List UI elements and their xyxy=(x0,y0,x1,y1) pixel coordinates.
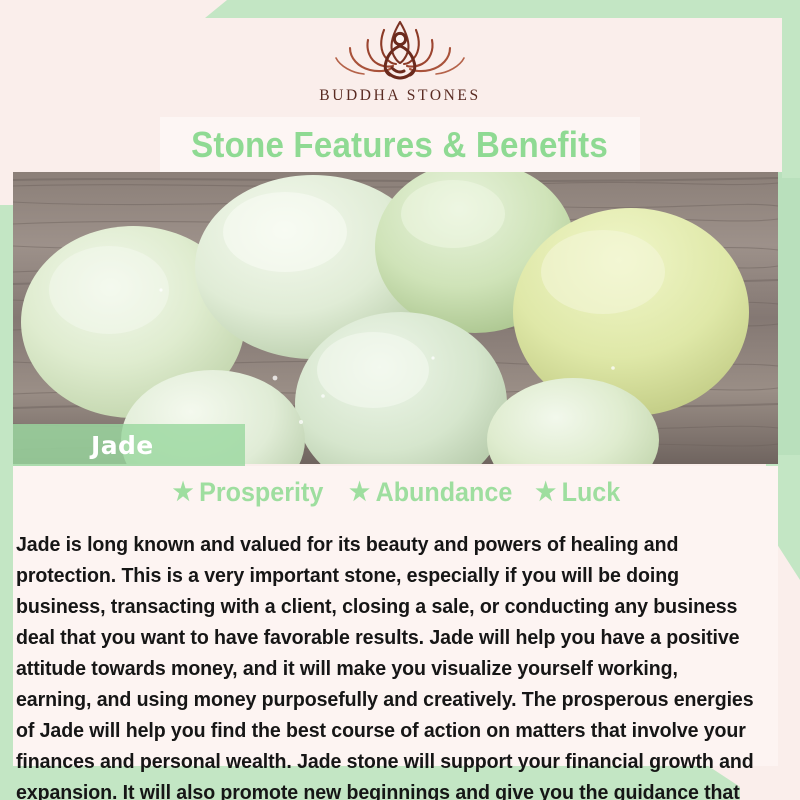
benefit-label: Luck xyxy=(562,477,621,508)
stone-photo xyxy=(13,172,778,464)
top-accent-band xyxy=(205,0,800,18)
lotus-meditation-icon xyxy=(324,18,476,84)
stone-description: Jade is long known and valued for its be… xyxy=(16,529,756,800)
benefit-item-abundance: ★ Abundance xyxy=(349,477,512,508)
right-photo-accent-bar xyxy=(778,172,800,462)
title-banner: Stone Features & Benefits xyxy=(160,117,640,172)
brand-name: BUDDHA STONES xyxy=(319,87,480,105)
brand-logo: BUDDHA STONES xyxy=(0,18,800,114)
benefit-item-luck: ★ Luck xyxy=(536,477,621,508)
star-icon: ★ xyxy=(173,480,194,505)
stone-name-badge: Jade xyxy=(13,424,245,466)
stone-name-label: Jade xyxy=(91,431,154,460)
page-title: Stone Features & Benefits xyxy=(192,124,609,166)
benefit-label: Prosperity xyxy=(199,477,323,508)
star-icon: ★ xyxy=(536,480,557,505)
infographic-page: Jade xyxy=(0,0,800,800)
left-accent-strip xyxy=(0,205,13,780)
benefit-item-prosperity: ★ Prosperity xyxy=(173,477,324,508)
star-icon: ★ xyxy=(349,480,370,505)
benefit-label: Abundance xyxy=(376,477,513,508)
benefits-row: ★ Prosperity ★ Abundance ★ Luck xyxy=(13,476,778,508)
